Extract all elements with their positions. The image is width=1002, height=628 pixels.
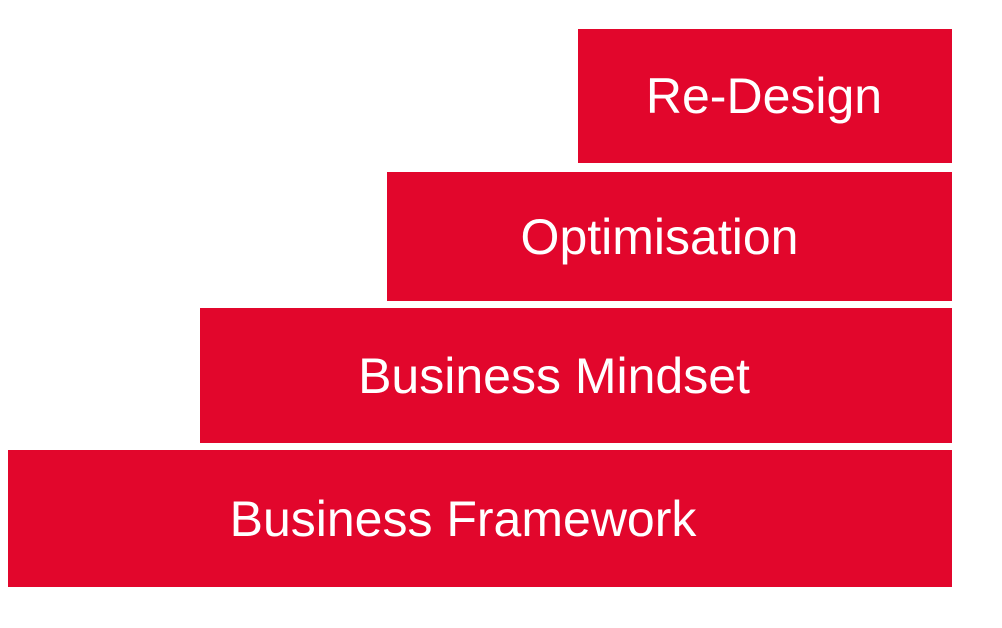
staircase-step-business-mindset[interactable]: Business Mindset (200, 308, 952, 443)
staircase-diagram: Re-Design Optimisation Business Mindset … (0, 0, 1002, 628)
staircase-step-label: Business Mindset (358, 351, 750, 401)
staircase-step-optimisation[interactable]: Optimisation (387, 172, 952, 301)
staircase-step-label: Optimisation (521, 212, 799, 262)
staircase-step-re-design[interactable]: Re-Design (578, 29, 952, 163)
staircase-step-label: Re-Design (646, 71, 882, 121)
staircase-step-label: Business Framework (230, 494, 697, 544)
staircase-step-business-framework[interactable]: Business Framework (8, 450, 952, 587)
